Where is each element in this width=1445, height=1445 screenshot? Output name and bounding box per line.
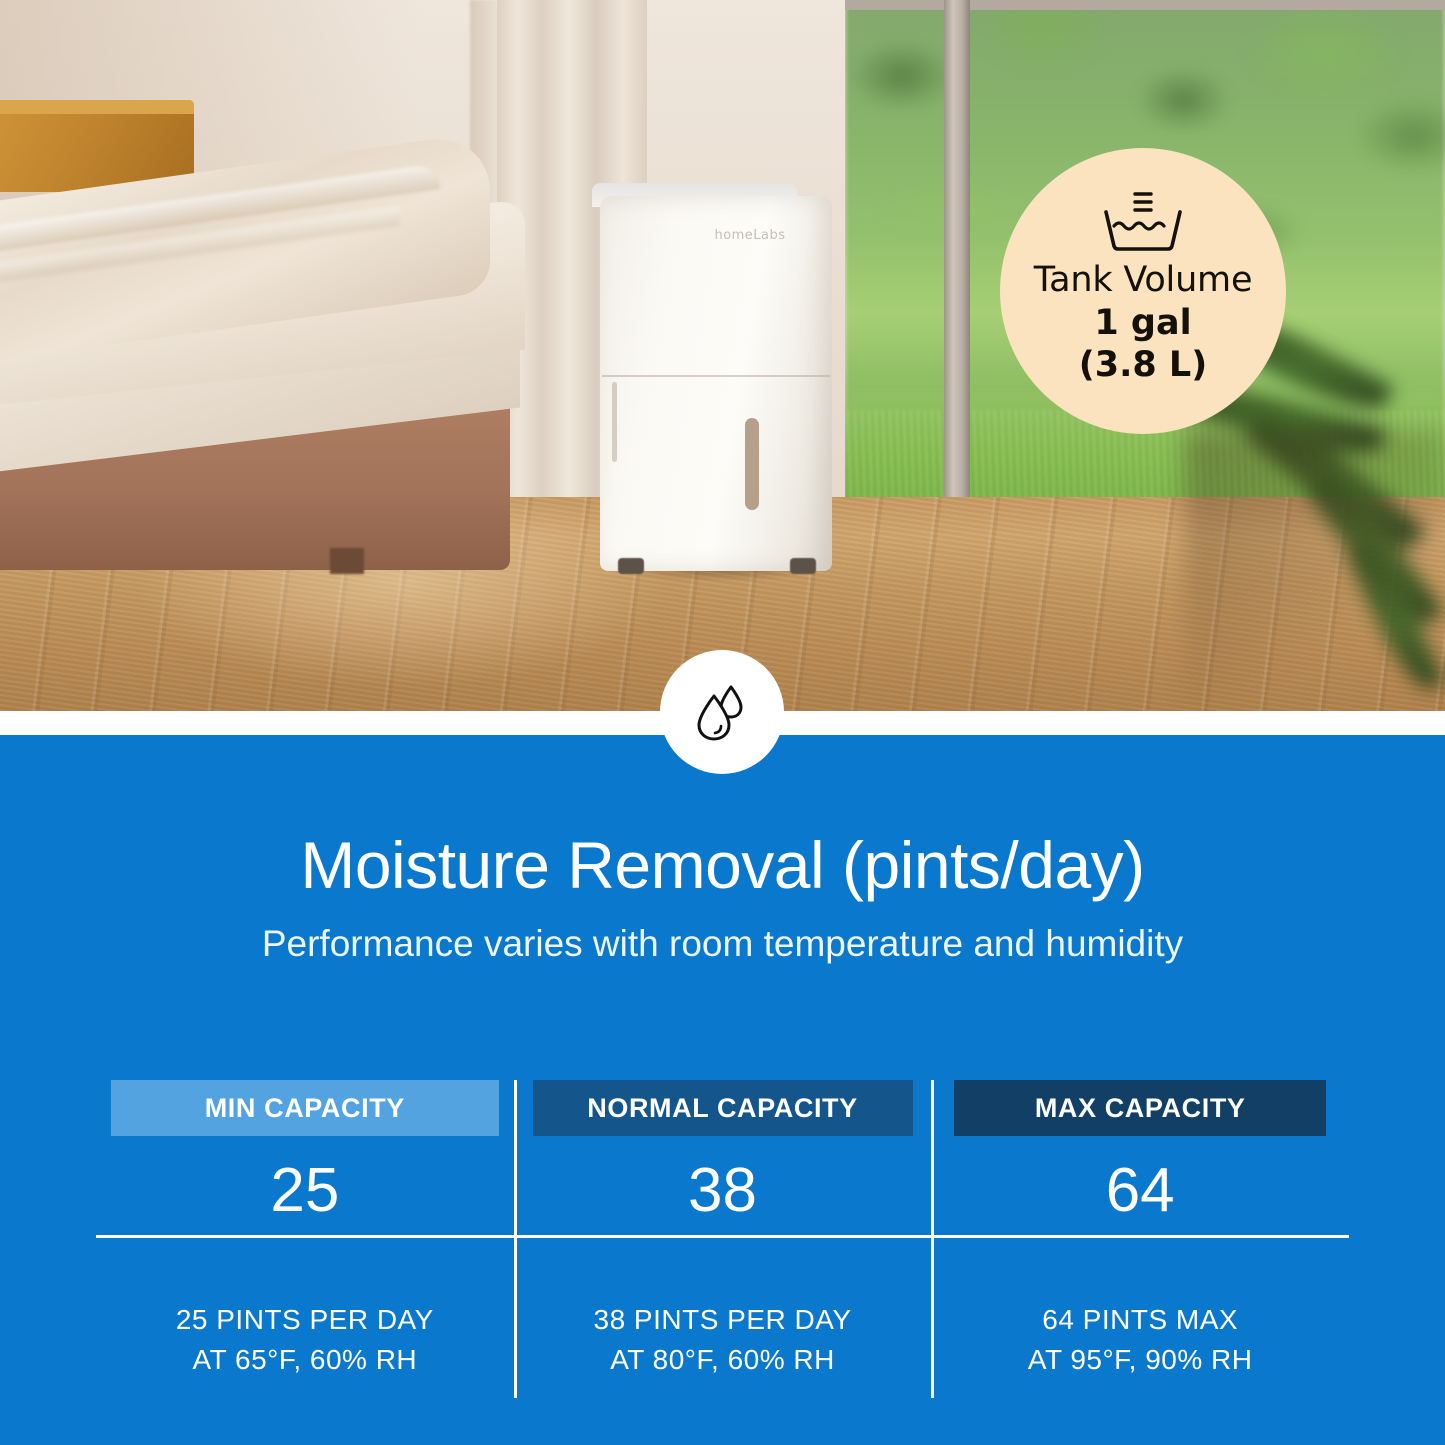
moisture-removal-panel: Moisture Removal (pints/day) Performance… (0, 735, 1445, 1445)
capacity-caption-normal: 38 PINTS PER DAY AT 80°F, 60% RH (594, 1300, 852, 1380)
window-frame-top (845, 0, 1445, 10)
capacity-header-min: MIN CAPACITY (111, 1080, 499, 1136)
caption-line-2: AT 80°F, 60% RH (594, 1340, 852, 1380)
dehumidifier-body (600, 196, 832, 571)
plant-shadow (1185, 430, 1445, 710)
bed-leg (330, 548, 364, 574)
caption-line-1: 25 PINTS PER DAY (176, 1300, 434, 1340)
caption-line-2: AT 95°F, 90% RH (1028, 1340, 1253, 1380)
capacity-header-max: MAX CAPACITY (954, 1080, 1326, 1136)
capacity-column-max: MAX CAPACITY 64 64 PINTS MAX AT 95°F, 90… (931, 1080, 1349, 1400)
capacity-header-normal: NORMAL CAPACITY (533, 1080, 913, 1136)
dehumidifier-caster (790, 558, 816, 574)
capacity-value-min: 25 (270, 1160, 339, 1222)
window-mullion (944, 0, 970, 560)
badge-value-metric: (3.8 L) (1079, 345, 1207, 385)
capacity-value-normal: 38 (688, 1160, 757, 1222)
capacity-value-max: 64 (1106, 1160, 1175, 1222)
badge-label: Tank Volume (1034, 260, 1253, 300)
capacity-columns: MIN CAPACITY 25 25 PINTS PER DAY AT 65°F… (96, 1080, 1349, 1400)
caption-line-2: AT 65°F, 60% RH (176, 1340, 434, 1380)
water-drops-badge (660, 650, 784, 774)
page-subtitle: Performance varies with room temperature… (0, 923, 1445, 965)
badge-value: 1 gal (1094, 303, 1191, 343)
dehumidifier-tank-edge (612, 382, 617, 462)
caption-line-1: 38 PINTS PER DAY (594, 1300, 852, 1340)
tank-volume-badge: Tank Volume 1 gal (3.8 L) (1000, 148, 1286, 434)
bed-headboard-top (0, 100, 194, 114)
dehumidifier-tank-seam (602, 375, 830, 377)
capacity-column-min: MIN CAPACITY 25 25 PINTS PER DAY AT 65°F… (96, 1080, 514, 1400)
caption-line-1: 64 PINTS MAX (1028, 1300, 1253, 1340)
water-drops-icon (691, 681, 753, 743)
dehumidifier-caster (618, 558, 644, 574)
page-title: Moisture Removal (pints/day) (0, 827, 1445, 903)
brand-logo: homeLabs (700, 228, 800, 243)
capacity-column-normal: NORMAL CAPACITY 38 38 PINTS PER DAY AT 8… (514, 1080, 932, 1400)
tank-water-level-icon (1100, 190, 1186, 252)
dehumidifier-tank-window (745, 418, 759, 510)
capacity-caption-min: 25 PINTS PER DAY AT 65°F, 60% RH (176, 1300, 434, 1380)
capacity-caption-max: 64 PINTS MAX AT 95°F, 90% RH (1028, 1300, 1253, 1380)
